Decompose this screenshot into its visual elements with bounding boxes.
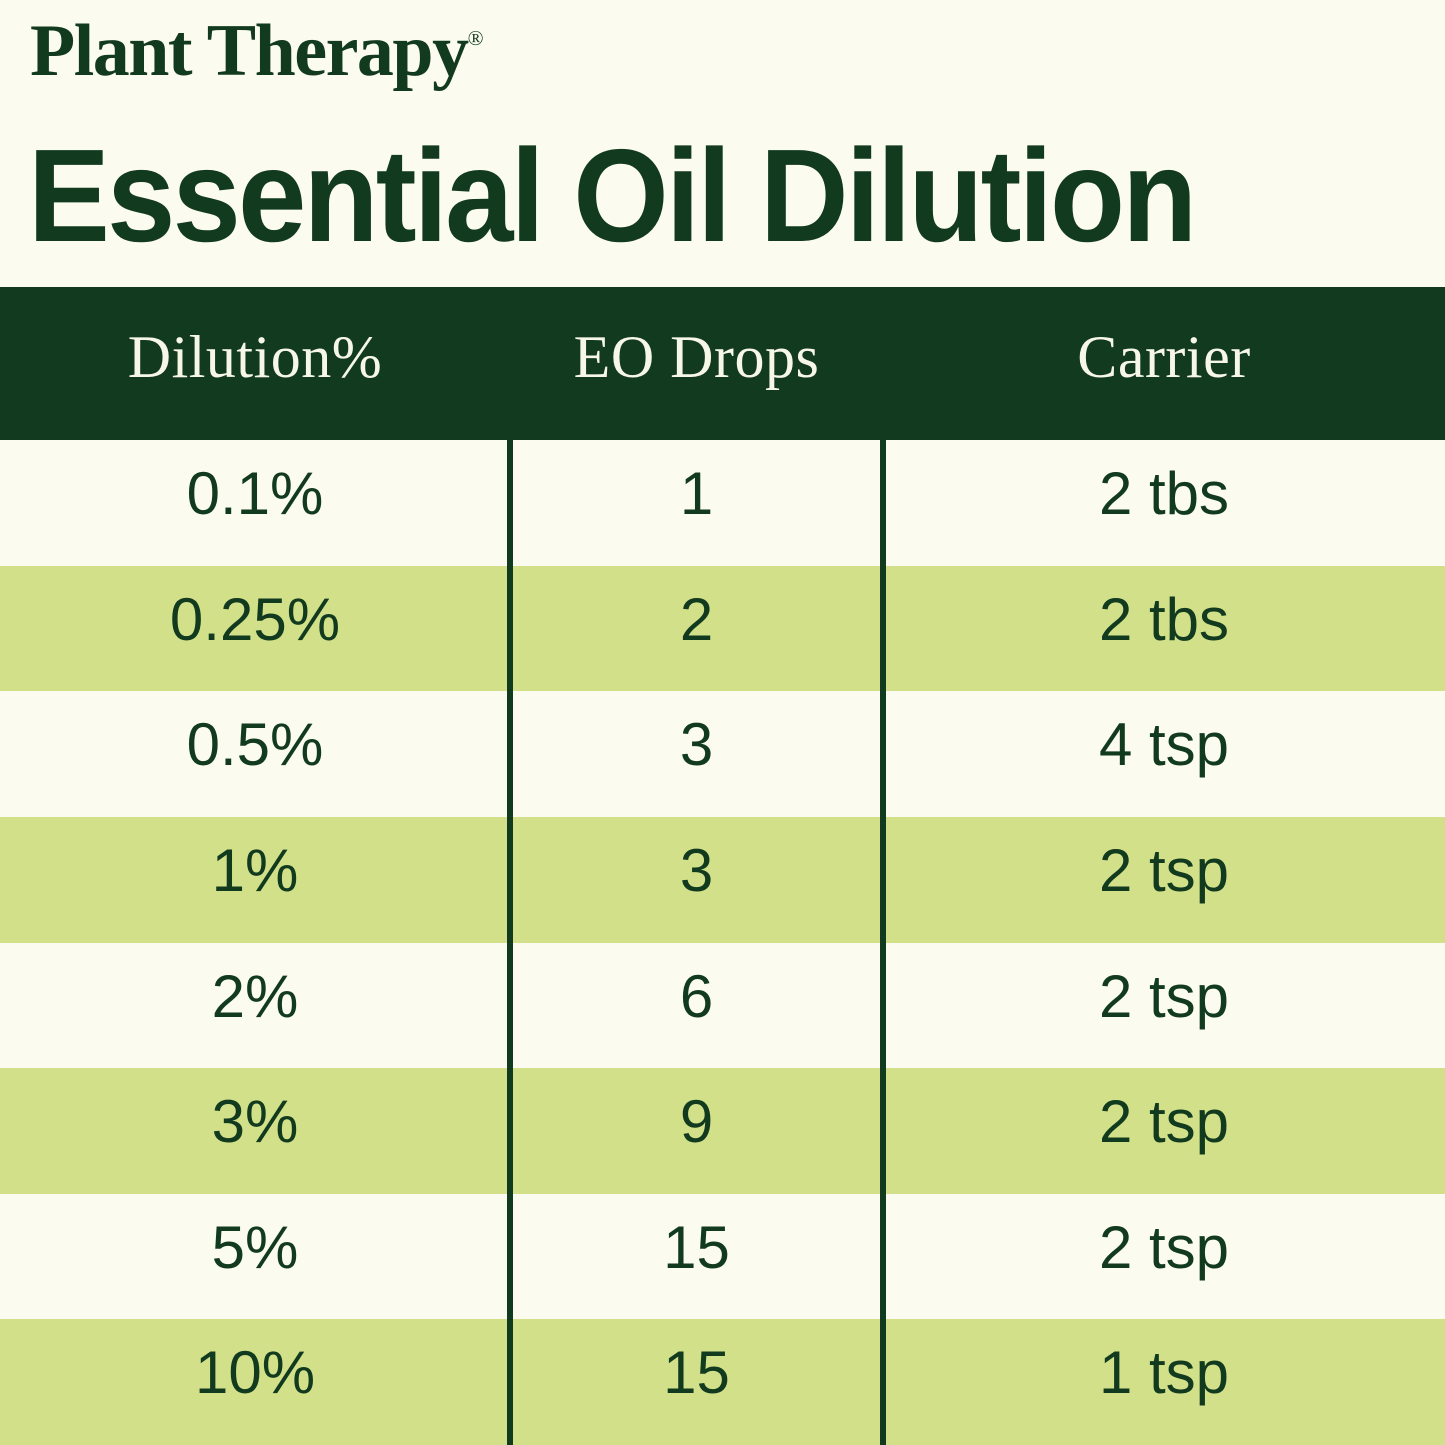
- cell-carrier: 2 tsp: [883, 943, 1445, 1069]
- table-row: 1% 3 2 tsp: [0, 817, 1445, 943]
- cell-carrier: 2 tsp: [883, 1068, 1445, 1194]
- cell-carrier: 2 tbs: [883, 440, 1445, 566]
- cell-dilution: 5%: [0, 1194, 510, 1320]
- cell-carrier: 2 tbs: [883, 566, 1445, 692]
- cell-dilution: 1%: [0, 817, 510, 943]
- brand-name: Plant Therapy: [30, 10, 468, 92]
- masthead: Plant Therapy® Essential Oil Dilution: [0, 0, 1445, 287]
- cell-carrier: 2 tsp: [883, 1194, 1445, 1320]
- column-header-dilution: Dilution%: [0, 287, 510, 440]
- table-row: 3% 9 2 tsp: [0, 1068, 1445, 1194]
- cell-eo-drops: 6: [510, 943, 883, 1069]
- table-body: 0.1% 1 2 tbs 0.25% 2 2 tbs 0.5% 3 4 tsp …: [0, 440, 1445, 1445]
- table-row: 5% 15 2 tsp: [0, 1194, 1445, 1320]
- table-row: 0.1% 1 2 tbs: [0, 440, 1445, 566]
- dilution-chart-page: Plant Therapy® Essential Oil Dilution Di…: [0, 0, 1445, 1445]
- cell-dilution: 0.1%: [0, 440, 510, 566]
- table-row: 10% 15 1 tsp: [0, 1319, 1445, 1445]
- cell-eo-drops: 3: [510, 691, 883, 817]
- table-row: 2% 6 2 tsp: [0, 943, 1445, 1069]
- cell-eo-drops: 2: [510, 566, 883, 692]
- cell-eo-drops: 15: [510, 1319, 883, 1445]
- brand-logo: Plant Therapy®: [30, 14, 484, 88]
- cell-eo-drops: 3: [510, 817, 883, 943]
- cell-carrier: 1 tsp: [883, 1319, 1445, 1445]
- cell-eo-drops: 1: [510, 440, 883, 566]
- registered-trademark-icon: ®: [468, 26, 484, 50]
- cell-dilution: 0.25%: [0, 566, 510, 692]
- cell-dilution: 10%: [0, 1319, 510, 1445]
- header-column-divider-2: [880, 430, 886, 440]
- cell-dilution: 0.5%: [0, 691, 510, 817]
- cell-carrier: 4 tsp: [883, 691, 1445, 817]
- table-header-row: Dilution% EO Drops Carrier: [0, 287, 1445, 440]
- cell-dilution: 3%: [0, 1068, 510, 1194]
- column-header-eo-drops: EO Drops: [510, 287, 883, 440]
- column-divider-1: [507, 440, 513, 1445]
- dilution-table: Dilution% EO Drops Carrier 0.1% 1 2 tbs …: [0, 287, 1445, 1445]
- cell-dilution: 2%: [0, 943, 510, 1069]
- cell-eo-drops: 9: [510, 1068, 883, 1194]
- column-divider-2: [880, 440, 886, 1445]
- column-header-carrier: Carrier: [883, 287, 1445, 440]
- cell-eo-drops: 15: [510, 1194, 883, 1320]
- table-row: 0.25% 2 2 tbs: [0, 566, 1445, 692]
- cell-carrier: 2 tsp: [883, 817, 1445, 943]
- table-row: 0.5% 3 4 tsp: [0, 691, 1445, 817]
- header-column-divider-1: [507, 430, 513, 440]
- page-title: Essential Oil Dilution: [28, 130, 1321, 262]
